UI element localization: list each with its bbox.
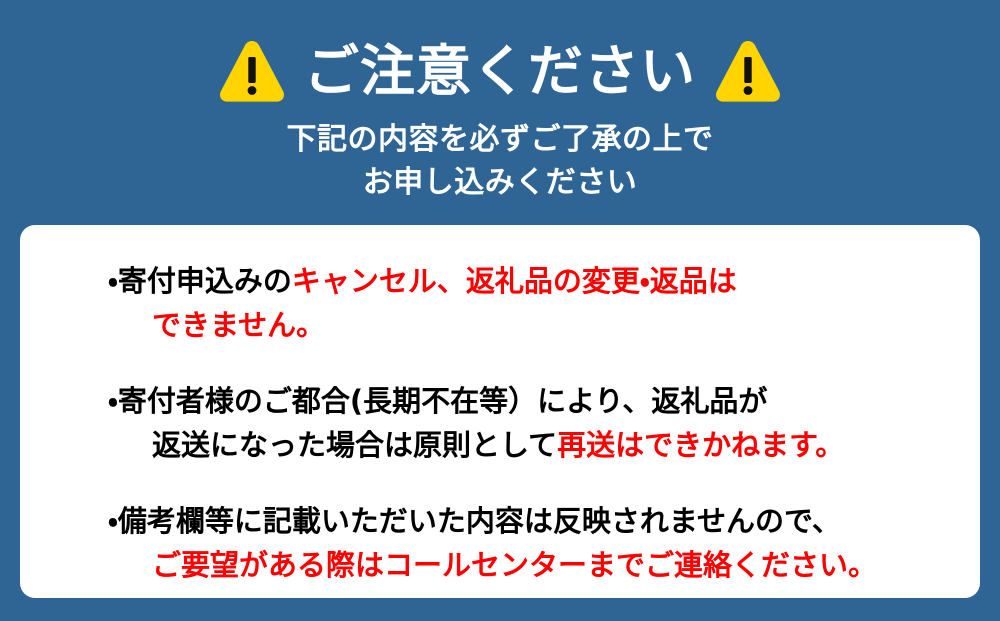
note-line: ・寄付申込みのキャンセル、返礼品の変更・返品は	[130, 259, 950, 303]
banner-subtitle: 下記の内容を必ずご了承の上で お申し込みください	[0, 118, 1000, 204]
note-line: 返送になった場合は原則として再送はできかねます。	[130, 423, 950, 467]
list-item: ・寄付者様のご都合(長期不在等）により、返礼品が 返送になった場合は原則として再…	[20, 379, 980, 467]
note-text-black: 備考欄等に記載いただいた内容は反映されませんので、	[118, 504, 841, 538]
note-text-red: 再送はできかねます。	[557, 428, 844, 462]
note-text-black: 返送になった場合は原則として	[152, 428, 557, 462]
note-line: ご要望がある際はコールセンターまでご連絡ください。	[130, 543, 950, 587]
warning-triangle-icon	[218, 38, 286, 104]
list-item: ・寄付申込みのキャンセル、返礼品の変更・返品は できません。	[20, 259, 980, 347]
note-text-black: 寄付申込みの	[118, 264, 292, 298]
subtitle-line-1: 下記の内容を必ずご了承の上で	[0, 118, 1000, 161]
list-item: ・備考欄等に記載いただいた内容は反映されませんので、 ご要望がある際はコールセン…	[20, 499, 980, 587]
note-text-red: キャンセル、返礼品の変更・返品は	[292, 264, 737, 298]
note-text-red: ご要望がある際はコールセンターまでご連絡ください。	[152, 548, 877, 582]
banner-header: ご注意ください 下記の内容を必ずご了承の上で お申し込みください	[0, 0, 1000, 215]
page-title: ご注意ください	[304, 44, 696, 99]
note-line: ・寄付者様のご都合(長期不在等）により、返礼品が	[130, 379, 950, 423]
notes-list: ・寄付申込みのキャンセル、返礼品の変更・返品は できません。 ・寄付者様のご都合…	[20, 259, 980, 587]
note-text-black: 寄付者様のご都合(長期不在等）により、返礼品が	[118, 384, 768, 418]
note-line: ・備考欄等に記載いただいた内容は反映されませんので、	[130, 499, 950, 543]
title-row: ご注意ください	[0, 30, 1000, 112]
notice-banner: ご注意ください 下記の内容を必ずご了承の上で お申し込みください ・寄付申込みの…	[0, 0, 1000, 621]
bullet-mark: ・	[108, 504, 118, 538]
notes-card: ・寄付申込みのキャンセル、返礼品の変更・返品は できません。 ・寄付者様のご都合…	[20, 225, 980, 598]
bullet-mark: ・	[108, 264, 118, 298]
note-text-red: できません。	[152, 308, 325, 342]
bullet-mark: ・	[108, 384, 118, 418]
warning-triangle-icon	[714, 38, 782, 104]
note-line: できません。	[130, 303, 950, 347]
subtitle-line-2: お申し込みください	[0, 161, 1000, 204]
